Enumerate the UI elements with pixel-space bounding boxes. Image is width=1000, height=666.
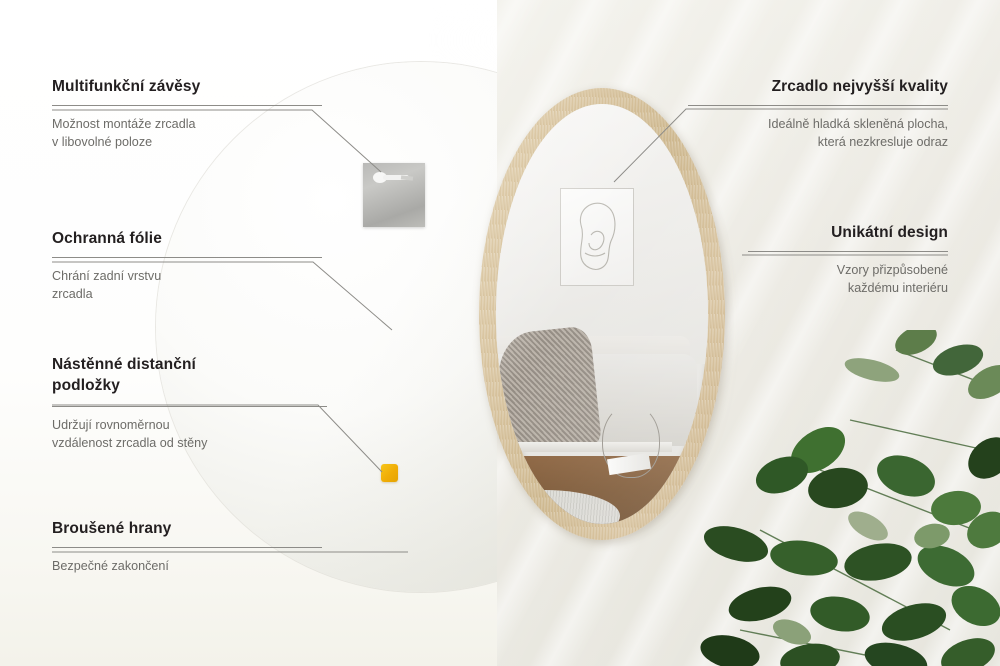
callout-rule <box>688 105 948 106</box>
callout-description: Chrání zadní vrstvu zrcadla <box>52 268 322 304</box>
callout-description: Ideálně hladká skleněná plocha, která ne… <box>688 116 948 152</box>
mirror-glass <box>496 104 708 524</box>
plant-foliage <box>700 330 1000 666</box>
callout-title: Multifunkční závěsy <box>52 78 322 96</box>
leaves-icon <box>700 330 1000 666</box>
wall-spacer <box>381 464 398 482</box>
callout-multifunkcni-zavesy: Multifunkční závěsy Možnost montáže zrca… <box>52 78 322 152</box>
infographic-canvas: Multifunkční závěsy Možnost montáže zrca… <box>0 0 1000 666</box>
hanger-keyhole-icon <box>373 172 409 183</box>
callout-description: Vzory přizpůsobené každému interiéru <box>748 262 948 298</box>
callout-brousene-hrany: Broušené hrany Bezpečné zakončení <box>52 520 322 576</box>
callout-description: Udržují rovnoměrnou vzdálenost zrcadla o… <box>52 417 327 453</box>
photo-mirror <box>479 88 725 540</box>
callout-rule <box>52 406 327 407</box>
callout-ochranna-folie: Ochranná fólie Chrání zadní vrstvu zrcad… <box>52 230 322 304</box>
callout-unikatni-design: Unikátní design Vzory přizpůsobené každé… <box>748 224 948 298</box>
callout-description: Bezpečné zakončení <box>52 558 322 576</box>
callout-rule <box>52 257 322 258</box>
callout-rule <box>52 105 322 106</box>
glass-sheen <box>496 104 708 524</box>
callout-title: Unikátní design <box>748 224 948 242</box>
callout-rule <box>748 251 948 252</box>
callout-nastenne-distancni-podlozky: Nástěnné distanční podložky Udržují rovn… <box>52 355 327 453</box>
callout-title: Ochranná fólie <box>52 230 322 248</box>
callout-zrcadlo-nejvyssi-kvality: Zrcadlo nejvyšší kvality Ideálně hladká … <box>688 78 948 152</box>
callout-description: Možnost montáže zrcadla v libovolné polo… <box>52 116 322 152</box>
callout-title: Zrcadlo nejvyšší kvality <box>688 78 948 96</box>
callout-title: Broušené hrany <box>52 520 322 538</box>
callout-rule <box>52 547 322 548</box>
callout-title: Nástěnné distanční podložky <box>52 355 327 397</box>
